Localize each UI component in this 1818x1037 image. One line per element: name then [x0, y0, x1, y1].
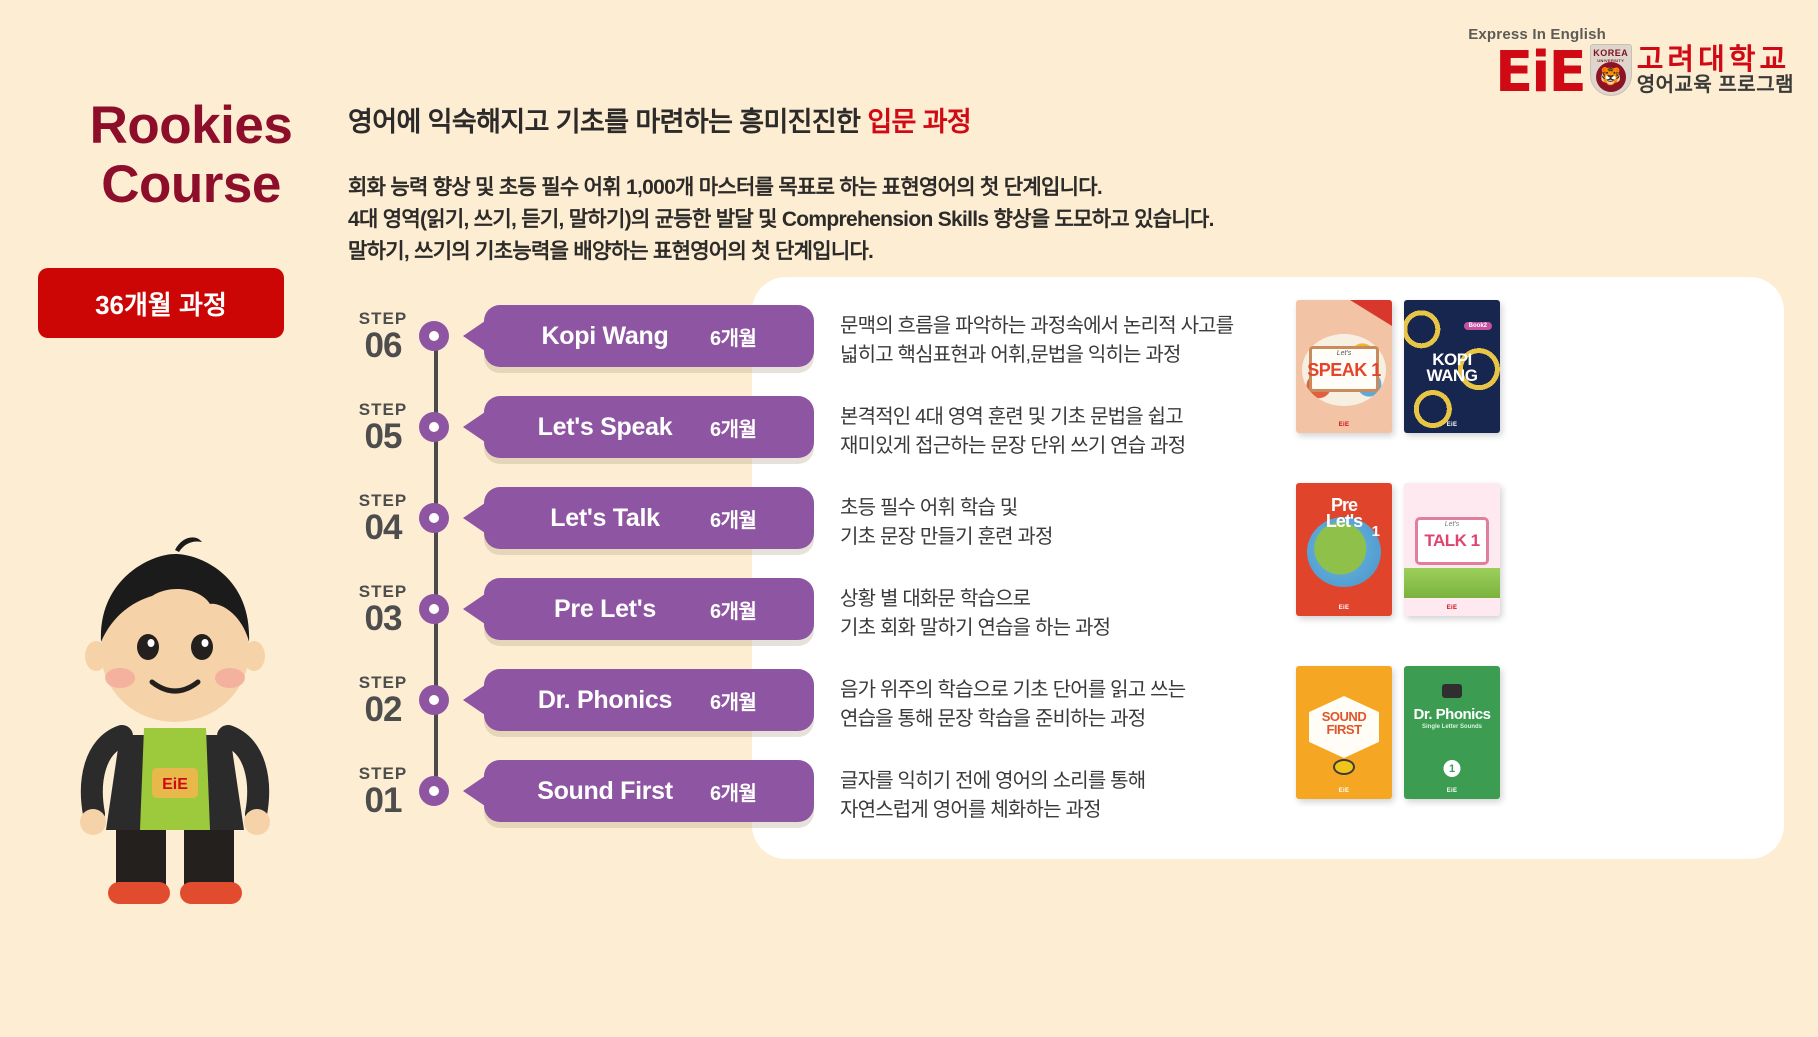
publisher-logo: EiE — [1296, 422, 1392, 428]
book-subtitle: Let's — [1404, 521, 1500, 528]
step-row-02[interactable]: STEP02Dr. Phonics6개월 — [352, 659, 814, 741]
course-pill[interactable]: Pre Let's6개월 — [484, 578, 814, 640]
timeline-dot-icon — [419, 594, 449, 624]
eie-wordmark: EiE — [1495, 50, 1585, 96]
step-row-05[interactable]: STEP05Let's Speak6개월 — [352, 386, 814, 468]
desc-line-1: 문맥의 흐름을 파악하는 과정속에서 논리적 사고를 — [840, 312, 1233, 341]
step-number: STEP04 — [352, 492, 414, 545]
corner-flag-icon — [1350, 300, 1392, 326]
subcopy-line-1: 회화 능력 향상 및 초등 필수 어휘 1,000개 마스터를 목표로 하는 표… — [348, 172, 1214, 204]
course-pill[interactable]: Kopi Wang6개월 — [484, 305, 814, 367]
publisher-logo: EiE — [1296, 788, 1392, 794]
subcopy: 회화 능력 향상 및 초등 필수 어휘 1,000개 마스터를 목표로 하는 표… — [348, 172, 1214, 268]
book-title: Dr. Phonics — [1404, 706, 1500, 723]
book-title: Let's — [1326, 511, 1362, 531]
desc-line-1: 글자를 익히기 전에 영어의 소리를 통해 — [840, 767, 1145, 796]
cover-art-grass — [1404, 568, 1500, 598]
graduation-cap-icon — [1442, 684, 1462, 698]
course-name: Let's Talk — [484, 504, 710, 533]
headline-lead: 영어에 익숙해지고 기초를 마련하는 흥미진진한 — [348, 107, 867, 137]
eie-mascot-icon: EiE — [60, 530, 290, 930]
book-subtitle: Single Letter Sounds — [1404, 724, 1500, 730]
headline: 영어에 익숙해지고 기초를 마련하는 흥미진진한 입문 과정 — [348, 100, 971, 139]
publisher-logo: EiE — [1404, 422, 1500, 428]
step-number: STEP01 — [352, 765, 414, 818]
book-cover-lets-talk-1: Let's TALK 1 EiE — [1404, 483, 1500, 616]
step-description-01: 글자를 익히기 전에 영어의 소리를 통해자연스럽게 영어를 체화하는 과정 — [840, 767, 1145, 825]
step-number: STEP02 — [352, 674, 414, 727]
university-name: 고려대학교 — [1637, 45, 1794, 75]
book-pair-middle: PreLet's 1 EiE Let's TALK 1 EiE — [1296, 483, 1500, 616]
book-title: SPEAK 1 — [1296, 360, 1392, 381]
program-name: 영어교육 프로그램 — [1637, 75, 1794, 96]
desc-line-2: 넓히고 핵심표현과 어휘,문법을 익히는 과정 — [840, 341, 1233, 370]
book-title: TALK 1 — [1404, 531, 1500, 551]
step-row-04[interactable]: STEP04Let's Talk6개월 — [352, 477, 814, 559]
step-description-04: 초등 필수 어휘 학습 및기초 문장 만들기 훈련 과정 — [840, 494, 1053, 552]
desc-line-1: 초등 필수 어휘 학습 및 — [840, 494, 1053, 523]
course-duration: 6개월 — [710, 504, 814, 533]
desc-line-2: 기초 문장 만들기 훈련 과정 — [840, 523, 1053, 552]
book-level: 1 — [1444, 760, 1461, 777]
publisher-logo: EiE — [1296, 605, 1392, 611]
pill-arrow-icon — [463, 685, 485, 715]
pill-arrow-icon — [463, 503, 485, 533]
pill-arrow-icon — [463, 594, 485, 624]
publisher-logo: EiE — [1404, 605, 1500, 611]
timeline-dot-icon — [419, 321, 449, 351]
step-row-01[interactable]: STEP01Sound First6개월 — [352, 750, 814, 832]
step-description-05: 본격적인 4대 영역 훈련 및 기초 문법을 쉽고재미있게 접근하는 문장 단위… — [840, 403, 1185, 461]
book-subtitle: Let's — [1296, 350, 1392, 357]
course-infographic: Express In English EiE KOREA UNIVERSITY … — [0, 0, 1818, 1037]
subcopy-line-2: 4대 영역(읽기, 쓰기, 듣기, 말하기)의 균등한 발달 및 Compreh… — [348, 204, 1214, 236]
book-title: WANG — [1427, 366, 1478, 385]
crest-top-text: KOREA — [1591, 48, 1631, 58]
book-level: 1 — [1372, 523, 1380, 540]
pill-arrow-icon — [463, 776, 485, 806]
timeline-dot-icon — [419, 503, 449, 533]
course-name: Pre Let's — [484, 595, 710, 624]
book-cover-dr-phonics: Dr. Phonics Single Letter Sounds 1 EiE — [1404, 666, 1500, 799]
book-cover-sound-first: SOUNDFIRST EiE — [1296, 666, 1392, 799]
step-number: STEP03 — [352, 583, 414, 636]
timeline-dot-icon — [419, 776, 449, 806]
course-duration: 6개월 — [710, 322, 814, 351]
course-duration: 6개월 — [710, 595, 814, 624]
pill-arrow-icon — [463, 412, 485, 442]
duration-badge: 36개월 과정 — [38, 268, 284, 338]
course-pill[interactable]: Let's Talk6개월 — [484, 487, 814, 549]
step-number: STEP05 — [352, 401, 414, 454]
book-level-badge: Book2 — [1464, 322, 1492, 330]
desc-line-1: 음가 위주의 학습으로 기초 단어를 읽고 쓰는 — [840, 676, 1185, 705]
book-cover-lets-speak-1: Let's SPEAK 1 EiE — [1296, 300, 1392, 433]
step-description-02: 음가 위주의 학습으로 기초 단어를 읽고 쓰는연습을 통해 문장 학습을 준비… — [840, 676, 1185, 734]
svg-text:EiE: EiE — [162, 776, 188, 793]
course-duration: 6개월 — [710, 686, 814, 715]
desc-line-2: 기초 회화 말하기 연습을 하는 과정 — [840, 614, 1110, 643]
course-pill[interactable]: Let's Speak6개월 — [484, 396, 814, 458]
publisher-logo: EiE — [1404, 788, 1500, 794]
book-pair-top: Let's SPEAK 1 EiE Book2 KOPIWANG EiE — [1296, 300, 1500, 433]
desc-line-1: 본격적인 4대 영역 훈련 및 기초 문법을 쉽고 — [840, 403, 1185, 432]
bee-icon — [1333, 759, 1355, 775]
book-cover-kopi-wang: Book2 KOPIWANG EiE — [1404, 300, 1500, 433]
step-row-06[interactable]: STEP06Kopi Wang6개월 — [352, 295, 814, 377]
course-duration: 6개월 — [710, 413, 814, 442]
tiger-icon — [1596, 62, 1626, 92]
headline-emphasis: 입문 과정 — [867, 107, 971, 137]
course-duration: 6개월 — [710, 777, 814, 806]
timeline-dot-icon — [419, 685, 449, 715]
book-title: FIRST — [1326, 722, 1361, 737]
course-pill[interactable]: Sound First6개월 — [484, 760, 814, 822]
step-number: STEP06 — [352, 310, 414, 363]
course-name: Sound First — [484, 777, 710, 806]
step-row-03[interactable]: STEP03Pre Let's6개월 — [352, 568, 814, 650]
eie-korea-university-logo: Express In English EiE KOREA UNIVERSITY … — [1468, 26, 1794, 96]
course-name: Dr. Phonics — [484, 686, 710, 715]
course-name: Kopi Wang — [484, 322, 710, 351]
page-title: RookiesCourse — [46, 96, 336, 215]
pill-arrow-icon — [463, 321, 485, 351]
desc-line-1: 상황 별 대화문 학습으로 — [840, 585, 1110, 614]
desc-line-2: 연습을 통해 문장 학습을 준비하는 과정 — [840, 705, 1185, 734]
course-name: Let's Speak — [484, 413, 710, 442]
desc-line-2: 자연스럽게 영어를 체화하는 과정 — [840, 796, 1145, 825]
desc-line-2: 재미있게 접근하는 문장 단위 쓰기 연습 과정 — [840, 432, 1185, 461]
timeline-dot-icon — [419, 412, 449, 442]
step-description-03: 상황 별 대화문 학습으로기초 회화 말하기 연습을 하는 과정 — [840, 585, 1110, 643]
course-pill[interactable]: Dr. Phonics6개월 — [484, 669, 814, 731]
book-pair-bottom: SOUNDFIRST EiE Dr. Phonics Single Letter… — [1296, 666, 1500, 799]
korea-university-crest-icon: KOREA UNIVERSITY — [1590, 44, 1632, 96]
book-cover-pre-lets: PreLet's 1 EiE — [1296, 483, 1392, 616]
subcopy-line-3: 말하기, 쓰기의 기초능력을 배양하는 표현영어의 첫 단계입니다. — [348, 236, 1214, 268]
step-description-06: 문맥의 흐름을 파악하는 과정속에서 논리적 사고를넓히고 핵심표현과 어휘,문… — [840, 312, 1233, 370]
